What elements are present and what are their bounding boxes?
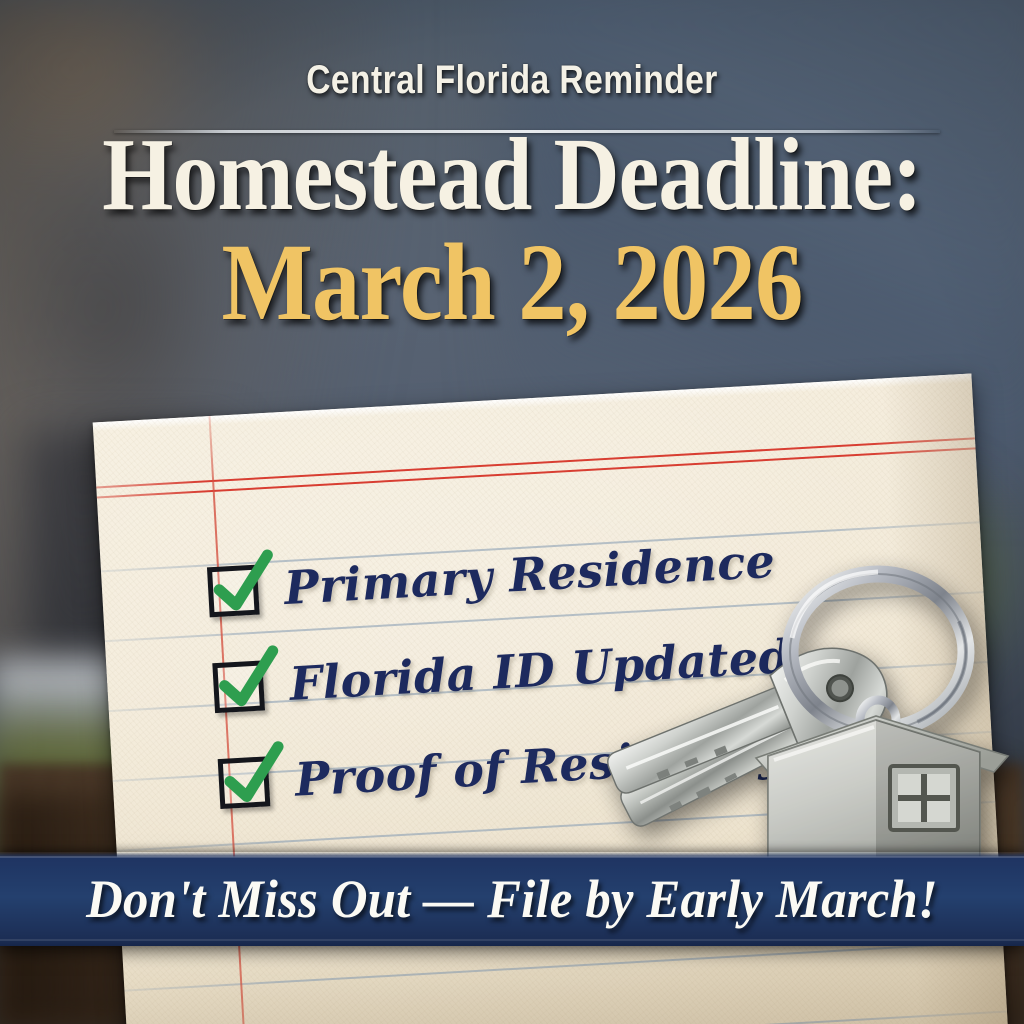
paper-red-rule-top bbox=[96, 437, 975, 488]
deadline-date: March 2, 2026 bbox=[61, 229, 962, 337]
checkbox-primary-residence[interactable] bbox=[207, 565, 260, 618]
checkbox-florida-id-updated[interactable] bbox=[212, 660, 265, 713]
headline-block: Central Florida Reminder Homestead Deadl… bbox=[0, 0, 1024, 337]
checkmark-icon bbox=[207, 549, 279, 621]
checkmark-icon bbox=[218, 740, 290, 812]
house-keychain-icon bbox=[560, 560, 1024, 890]
checkmark-icon bbox=[212, 644, 284, 716]
kicker-text: Central Florida Reminder bbox=[82, 58, 942, 103]
page-title: Homestead Deadline: bbox=[61, 125, 962, 225]
checkbox-proof-of-residency[interactable] bbox=[218, 756, 271, 809]
banner-text: Don't Miss Out — File by Early March! bbox=[86, 868, 938, 930]
poster-canvas: Central Florida Reminder Homestead Deadl… bbox=[0, 0, 1024, 1024]
paper-red-rule-bottom bbox=[97, 447, 976, 498]
bottom-banner: Don't Miss Out — File by Early March! bbox=[0, 852, 1024, 946]
